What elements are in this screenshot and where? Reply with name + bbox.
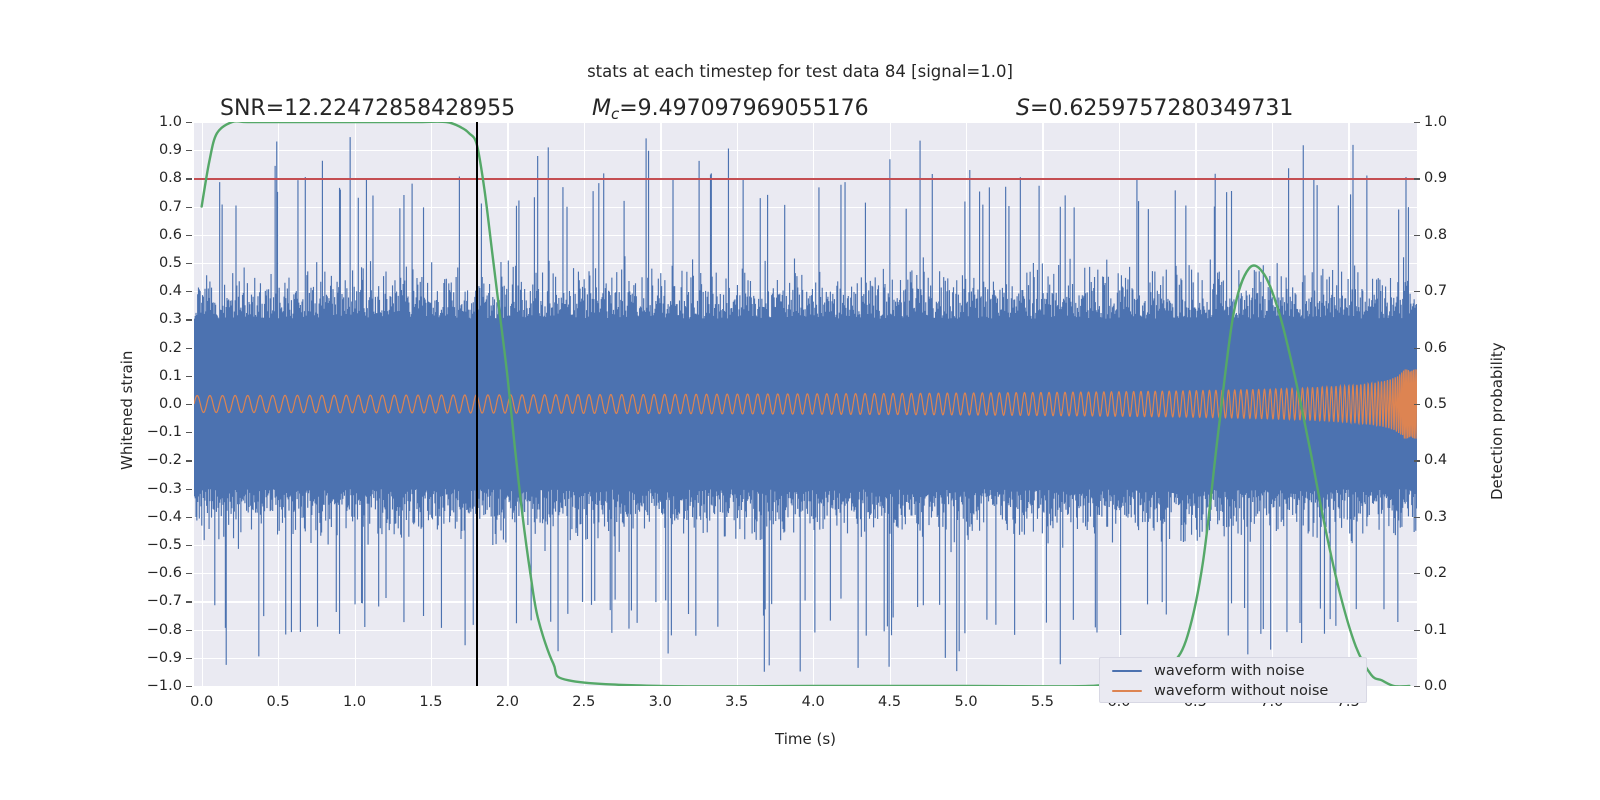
x-axis-label: Time (s)	[194, 730, 1417, 748]
tick-mark	[186, 150, 192, 151]
y-axis-left-tick-label: 0.3	[159, 311, 182, 327]
legend-swatch-noise	[1112, 670, 1142, 673]
tick-mark	[186, 489, 192, 490]
tick-mark	[186, 658, 192, 659]
annotation-snr-text: SNR=12.22472858428955	[220, 96, 515, 121]
x-axis-tick-label: 3.0	[649, 694, 672, 710]
tick-mark	[1414, 686, 1420, 687]
chart-title: stats at each timestep for test data 84 …	[0, 62, 1600, 81]
x-axis-tick-label: 0.5	[267, 694, 290, 710]
y-axis-right-tick-label: 0.0	[1424, 678, 1447, 694]
annotation-mc-symbol: M	[592, 96, 611, 121]
tick-mark	[1414, 178, 1420, 179]
y-axis-left-tick-label: 0.2	[159, 340, 182, 356]
y-axis-left-tick-label: −0.6	[147, 565, 182, 581]
tick-mark	[186, 460, 192, 461]
tick-mark	[1414, 235, 1420, 236]
tick-mark	[1414, 573, 1420, 574]
merger-time-line	[476, 122, 479, 686]
tick-mark	[186, 348, 192, 349]
y-axis-right-tick-label: 0.1	[1424, 622, 1447, 638]
tick-mark	[186, 122, 192, 123]
tick-mark	[186, 601, 192, 602]
tick-mark	[186, 573, 192, 574]
y-axis-left-tick-label: 1.0	[159, 114, 182, 130]
y-axis-left-label: Whitened strain	[118, 351, 136, 470]
plot-area	[194, 122, 1417, 686]
figure-canvas: stats at each timestep for test data 84 …	[0, 0, 1600, 800]
tick-mark	[1414, 348, 1420, 349]
tick-mark	[186, 319, 192, 320]
y-axis-left-tick-label: 0.8	[159, 170, 182, 186]
y-axis-left-tick-label: −0.4	[147, 509, 182, 525]
tick-mark	[186, 376, 192, 377]
tick-mark	[186, 291, 192, 292]
tick-mark	[186, 178, 192, 179]
tick-mark	[1414, 291, 1420, 292]
annotation-score: S=0.6259757280349731	[1016, 96, 1293, 121]
y-axis-left-tick-label: 0.1	[159, 368, 182, 384]
y-axis-left-tick-label: 0.4	[159, 283, 182, 299]
y-axis-left-tick-label: 0.6	[159, 227, 182, 243]
x-axis-tick-label: 1.5	[419, 694, 442, 710]
tick-mark	[186, 545, 192, 546]
tick-mark	[1414, 517, 1420, 518]
annotation-chirp-mass: Mc=9.497097969055176	[592, 96, 869, 123]
y-axis-right-tick-label: 0.4	[1424, 452, 1447, 468]
y-axis-right-tick-label: 0.7	[1424, 283, 1447, 299]
legend-label-clean: waveform without noise	[1154, 683, 1328, 699]
annotation-mc-value: 9.497097969055176	[638, 96, 869, 121]
x-axis-tick-label: 5.0	[954, 694, 977, 710]
y-axis-left-tick-label: 0.5	[159, 255, 182, 271]
y-axis-right-tick-label: 0.6	[1424, 340, 1447, 356]
y-axis-left-tick-label: 0.7	[159, 199, 182, 215]
tick-mark	[186, 432, 192, 433]
y-axis-right-tick-label: 0.8	[1424, 227, 1447, 243]
tick-mark	[186, 686, 192, 687]
detection-probability-path	[202, 122, 1410, 686]
tick-mark	[186, 207, 192, 208]
y-axis-right-tick-label: 0.9	[1424, 170, 1447, 186]
annotation-s-equals: =	[1030, 96, 1048, 121]
tick-mark	[186, 630, 192, 631]
tick-mark	[1414, 122, 1420, 123]
y-axis-left-tick-label: −0.8	[147, 622, 182, 638]
tick-mark	[186, 235, 192, 236]
annotation-snr: SNR=12.22472858428955	[220, 96, 515, 121]
y-axis-left-tick-label: −0.9	[147, 650, 182, 666]
legend-item: waveform with noise	[1100, 661, 1366, 681]
y-axis-left-tick-label: −1.0	[147, 678, 182, 694]
y-axis-left-tick-label: −0.3	[147, 481, 182, 497]
y-axis-left-tick-label: −0.7	[147, 593, 182, 609]
x-axis-tick-label: 2.5	[572, 694, 595, 710]
y-axis-right-tick-label: 0.3	[1424, 509, 1447, 525]
y-axis-left-tick-label: 0.0	[159, 396, 182, 412]
tick-mark	[186, 263, 192, 264]
tick-mark	[186, 517, 192, 518]
x-axis-tick-label: 5.5	[1031, 694, 1054, 710]
series-detection-probability	[194, 122, 1417, 686]
y-axis-right-label: Detection probability	[1488, 342, 1506, 500]
legend-item: waveform without noise	[1100, 681, 1366, 701]
x-axis-tick-label: 2.0	[496, 694, 519, 710]
tick-mark	[1414, 630, 1420, 631]
y-axis-left-tick-label: −0.1	[147, 424, 182, 440]
legend: waveform with noise waveform without noi…	[1099, 657, 1367, 703]
y-axis-right-tick-label: 1.0	[1424, 114, 1447, 130]
x-axis-tick-label: 3.5	[725, 694, 748, 710]
x-axis-tick-label: 4.0	[802, 694, 825, 710]
x-axis-tick-label: 4.5	[878, 694, 901, 710]
tick-mark	[1414, 404, 1420, 405]
tick-mark	[186, 404, 192, 405]
annotation-s-symbol: S	[1016, 96, 1030, 121]
legend-label-noise: waveform with noise	[1154, 663, 1305, 679]
x-axis-tick-label: 0.0	[190, 694, 213, 710]
tick-mark	[1414, 460, 1420, 461]
y-axis-right-tick-label: 0.5	[1424, 396, 1447, 412]
annotation-s-value: 0.6259757280349731	[1048, 96, 1293, 121]
y-axis-left-tick-label: −0.2	[147, 452, 182, 468]
y-axis-left-tick-label: 0.9	[159, 142, 182, 158]
x-axis-tick-label: 1.0	[343, 694, 366, 710]
annotation-mc-equals: =	[619, 96, 637, 121]
y-axis-right-tick-label: 0.2	[1424, 565, 1447, 581]
annotation-mc-subscript: c	[611, 105, 619, 123]
legend-swatch-clean	[1112, 690, 1142, 693]
y-axis-left-tick-label: −0.5	[147, 537, 182, 553]
